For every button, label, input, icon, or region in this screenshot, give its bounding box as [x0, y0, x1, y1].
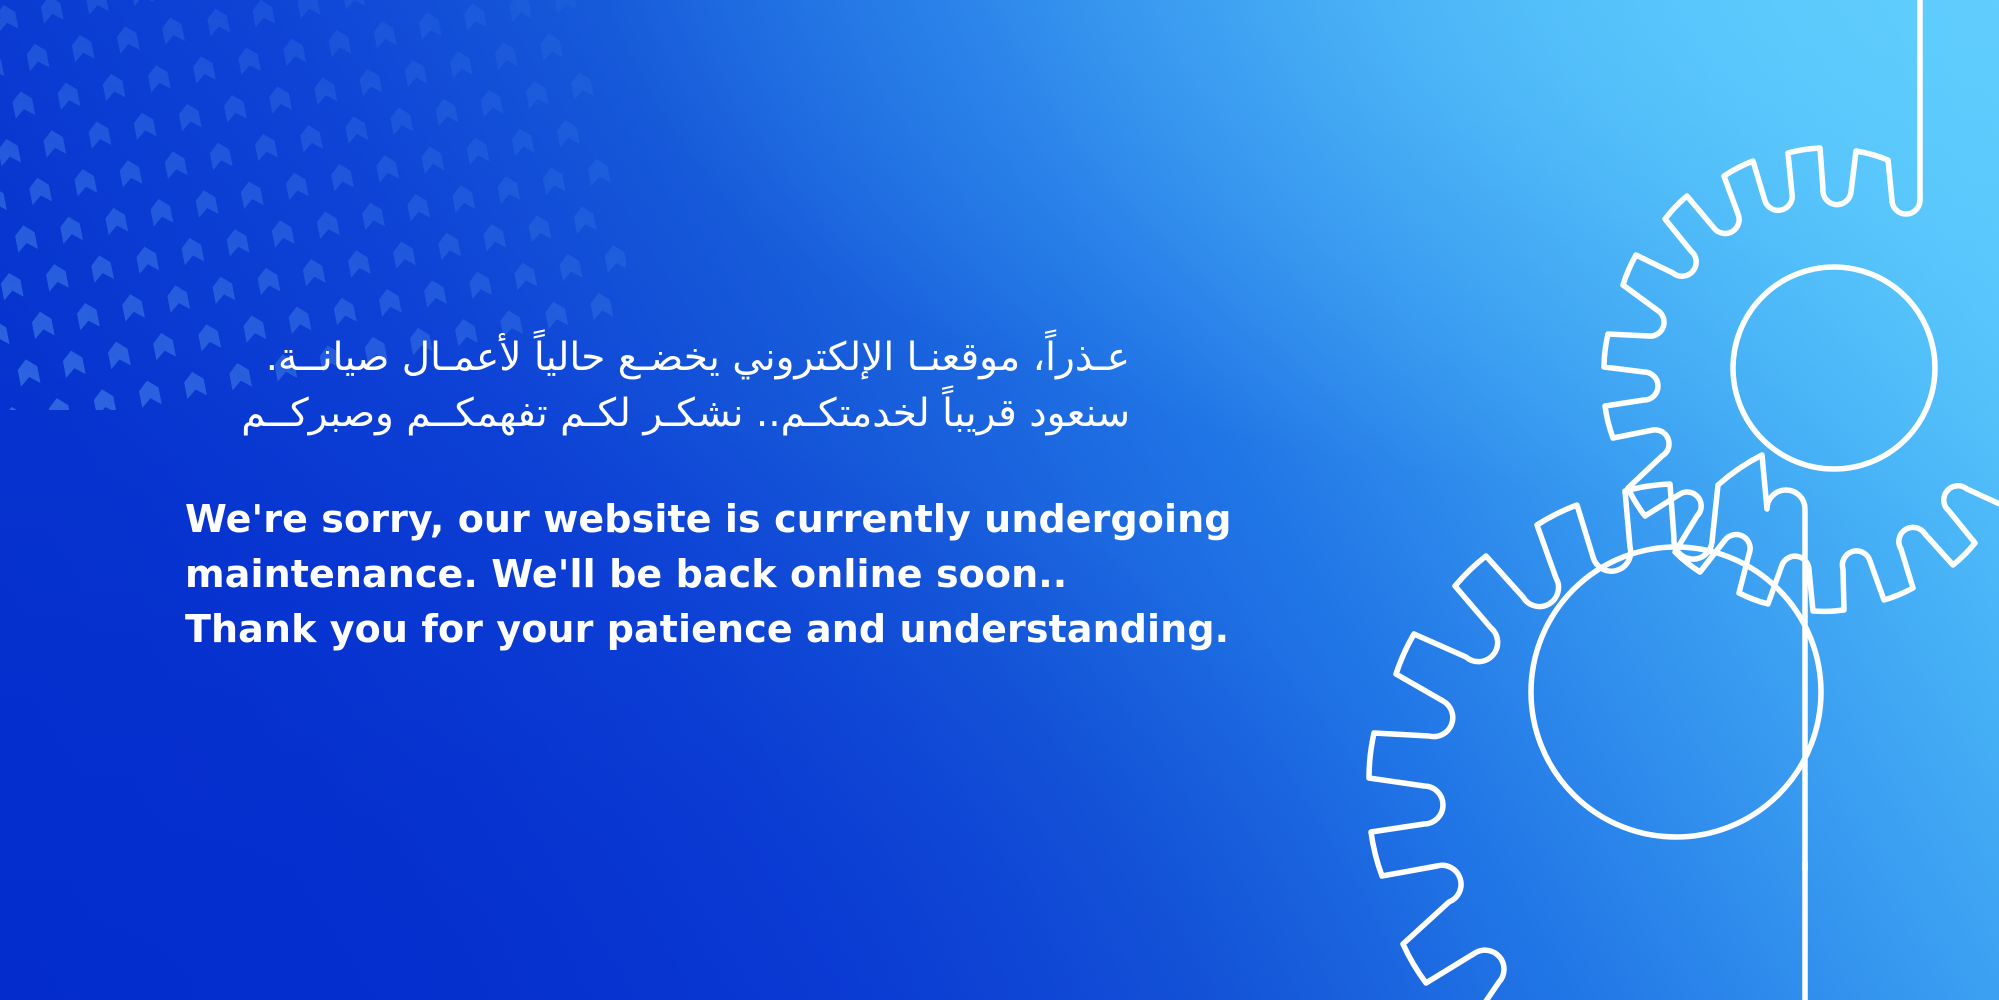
gear-upper-teeth-outline: [1604, 148, 1999, 611]
gear-lower-inner-circle: [1531, 547, 1821, 837]
gear-lower: [1369, 455, 1821, 1000]
english-line-3: Thank you for your patience and understa…: [185, 602, 1185, 657]
message-content: عـذراً، موقعنـا الإلكتروني يخضـع حالياً …: [185, 330, 1185, 657]
english-line-1: We're sorry, our website is currently un…: [185, 492, 1185, 547]
gear-decoration-group: [1179, 0, 1999, 1000]
arabic-line-2: سنعود قريباً لخدمتكـم.. نشكـر لكـم تفهمك…: [185, 386, 1130, 442]
arabic-line-1: عـذراً، موقعنـا الإلكتروني يخضـع حالياً …: [185, 330, 1130, 386]
arabic-message: عـذراً، موقعنـا الإلكتروني يخضـع حالياً …: [185, 330, 1130, 442]
maintenance-page: عـذراً، موقعنـا الإلكتروني يخضـع حالياً …: [0, 0, 1999, 1000]
gear-upper-inner-circle: [1733, 267, 1935, 469]
english-line-2: maintenance. We'll be back online soon..: [185, 547, 1185, 602]
gear-upper: [1604, 148, 1999, 611]
english-message: We're sorry, our website is currently un…: [185, 492, 1185, 657]
